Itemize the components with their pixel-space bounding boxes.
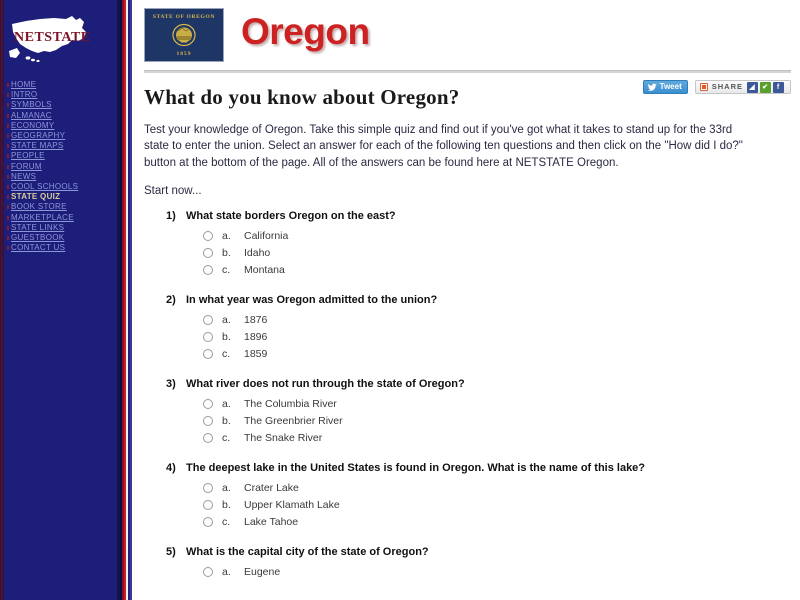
answer-option-letter: c. [222,516,244,528]
quiz-intro-paragraph: Test your knowledge of Oregon. Take this… [144,122,760,171]
question-number: 4) [144,461,186,531]
state-seal-icon [169,22,199,49]
sidebar-item-label: HOME [11,80,36,90]
answer-radio-button[interactable] [203,265,213,275]
page-root: NETSTATE HOMEINTROSYMBOLSALMANACECONOMYG… [0,0,800,600]
bullet-icon [6,202,11,212]
header-divider [144,70,791,73]
bullet-icon [6,151,11,161]
sidebar-item-label: CONTACT US [11,243,65,253]
sidebar-item-label: GUESTBOOK [11,233,64,243]
question-block: 3)What river does not run through the st… [144,377,769,447]
answer-option-letter: c. [222,348,244,360]
question-text: What state borders Oregon on the east? [186,209,769,224]
bullet-icon [6,162,11,172]
answer-option-letter: a. [222,566,244,578]
answer-option-letter: b. [222,415,244,427]
sidebar-item-label: INTRO [11,90,37,100]
answer-option[interactable]: c.Montana [186,262,769,279]
question-list: 1)What state borders Oregon on the east?… [144,209,769,581]
sidebar-edge-stripes [117,0,135,600]
oregon-flag-icon: STATE OF OREGON 1859 [144,8,224,62]
sidebar-left-accent-strip [0,0,4,600]
netstate-logo[interactable]: NETSTATE [6,10,98,70]
answer-radio-button[interactable] [203,500,213,510]
bullet-icon [6,80,11,90]
answer-option-letter: c. [222,432,244,444]
answer-option-letter: a. [222,398,244,410]
answer-radio-button[interactable] [203,567,213,577]
answer-option-letter: b. [222,331,244,343]
sidebar: NETSTATE HOMEINTROSYMBOLSALMANACECONOMYG… [0,0,135,600]
answer-option[interactable]: c.The Snake River [186,430,769,447]
flag-year-text: 1859 [145,51,223,57]
facebook-icon[interactable]: f [773,82,784,93]
answer-option-label: Montana [244,264,285,276]
sidebar-item-label: BOOK STORE [11,202,67,212]
sidebar-item-label: ALMANAC [11,111,52,121]
answer-radio-button[interactable] [203,483,213,493]
bullet-icon [6,233,11,243]
sidebar-item-people[interactable]: PEOPLE [6,151,131,161]
answer-option-label: Eugene [244,566,280,578]
bullet-icon [6,213,11,223]
bullet-icon [6,100,11,110]
answer-radio-button[interactable] [203,416,213,426]
question-number: 3) [144,377,186,447]
answer-option[interactable]: a.1876 [186,312,769,329]
sidebar-item-state-links[interactable]: STATE LINKS [6,223,131,233]
question-number: 5) [144,545,186,581]
bullet-icon [6,192,11,202]
answer-option-label: California [244,230,288,242]
main-content-area: STATE OF OREGON 1859 Oregon Tweet [135,0,800,600]
answer-radio-button[interactable] [203,517,213,527]
sidebar-item-home[interactable]: HOME [6,80,131,90]
answer-option-label: 1896 [244,331,267,343]
sidebar-item-intro[interactable]: INTRO [6,90,131,100]
question-number: 1) [144,209,186,279]
sidebar-item-marketplace[interactable]: MARKETPLACE [6,212,131,222]
answer-option[interactable]: b.Upper Klamath Lake [186,497,769,514]
answer-radio-button[interactable] [203,332,213,342]
sidebar-item-symbols[interactable]: SYMBOLS [6,100,131,110]
sidebar-item-label: NEWS [11,172,36,182]
answer-option-label: 1859 [244,348,267,360]
answer-option-letter: c. [222,264,244,276]
netstate-logo-text: NETSTATE [14,30,91,46]
question-block: 2)In what year was Oregon admitted to th… [144,293,769,363]
answer-option[interactable]: c.1859 [186,346,769,363]
answer-option-label: 1876 [244,314,267,326]
sidebar-item-label: ECONOMY [11,121,54,131]
answer-option[interactable]: b.The Greenbrier River [186,413,769,430]
sidebar-item-almanac[interactable]: ALMANAC [6,111,131,121]
page-header: STATE OF OREGON 1859 Oregon [135,0,800,66]
sidebar-item-label: STATE QUIZ [11,192,60,202]
answer-option[interactable]: a.The Columbia River [186,396,769,413]
answer-radio-button[interactable] [203,231,213,241]
question-text: What is the capital city of the state of… [186,545,769,560]
question-body: What river does not run through the stat… [186,377,769,447]
answer-option-label: Upper Klamath Lake [244,499,340,511]
answer-radio-button[interactable] [203,399,213,409]
answer-radio-button[interactable] [203,349,213,359]
quiz-heading: What do you know about Oregon? [144,84,769,110]
answer-option-label: The Greenbrier River [244,415,343,427]
answer-option-letter: a. [222,482,244,494]
answer-option-label: The Columbia River [244,398,337,410]
question-text: In what year was Oregon admitted to the … [186,293,769,308]
bullet-icon [6,172,11,182]
answer-option[interactable]: c.Lake Tahoe [186,514,769,531]
bullet-icon [6,182,11,192]
sidebar-item-label: FORUM [11,162,42,172]
sidebar-item-state-quiz[interactable]: STATE QUIZ [6,192,131,202]
sidebar-item-label: PEOPLE [11,151,45,161]
bullet-icon [6,121,11,131]
answer-radio-button[interactable] [203,433,213,443]
bullet-icon [6,131,11,141]
question-body: The deepest lake in the United States is… [186,461,769,531]
bullet-icon [6,223,11,233]
answer-option-letter: a. [222,314,244,326]
answer-option-label: Crater Lake [244,482,299,494]
sidebar-item-label: STATE LINKS [11,223,64,233]
answer-option-label: Lake Tahoe [244,516,298,528]
bullet-icon [6,243,11,253]
sidebar-item-economy[interactable]: ECONOMY [6,121,131,131]
sidebar-item-label: MARKETPLACE [11,213,74,223]
bullet-icon [6,90,11,100]
answer-option-letter: a. [222,230,244,242]
answer-radio-button[interactable] [203,248,213,258]
sidebar-nav: HOMEINTROSYMBOLSALMANACECONOMYGEOGRAPHYS… [6,80,131,253]
answer-option-label: Idaho [244,247,270,259]
answer-radio-button[interactable] [203,315,213,325]
start-now-text: Start now... [144,185,769,197]
question-body: What state borders Oregon on the east?a.… [186,209,769,279]
sidebar-item-geography[interactable]: GEOGRAPHY [6,131,131,141]
page-title: Oregon [241,12,370,52]
sidebar-item-news[interactable]: NEWS [6,172,131,182]
answer-option-label: The Snake River [244,432,322,444]
answer-option[interactable]: a.Crater Lake [186,480,769,497]
question-text: What river does not run through the stat… [186,377,769,392]
answer-option-letter: b. [222,499,244,511]
sidebar-item-forum[interactable]: FORUM [6,162,131,172]
sidebar-item-guestbook[interactable]: GUESTBOOK [6,233,131,243]
sidebar-item-state-maps[interactable]: STATE MAPS [6,141,131,151]
sidebar-item-label: COOL SCHOOLS [11,182,78,192]
answer-option[interactable]: b.1896 [186,329,769,346]
answer-option[interactable]: b.Idaho [186,245,769,262]
bullet-icon [6,141,11,151]
answer-option[interactable]: a.California [186,228,769,245]
quiz-content: What do you know about Oregon? Test your… [144,84,769,595]
question-block: 1)What state borders Oregon on the east?… [144,209,769,279]
answer-option-letter: b. [222,247,244,259]
question-block: 4)The deepest lake in the United States … [144,461,769,531]
sidebar-item-label: SYMBOLS [11,100,52,110]
answer-option[interactable]: a.Eugene [186,564,769,581]
question-block: 5)What is the capital city of the state … [144,545,769,581]
question-number: 2) [144,293,186,363]
question-body: What is the capital city of the state of… [186,545,769,581]
question-body: In what year was Oregon admitted to the … [186,293,769,363]
sidebar-item-label: STATE MAPS [11,141,64,151]
bullet-icon [6,111,11,121]
question-text: The deepest lake in the United States is… [186,461,769,476]
sidebar-item-cool-schools[interactable]: COOL SCHOOLS [6,182,131,192]
sidebar-item-label: GEOGRAPHY [11,131,65,141]
flag-top-text: STATE OF OREGON [145,14,223,20]
sidebar-item-book-store[interactable]: BOOK STORE [6,202,131,212]
sidebar-item-contact-us[interactable]: CONTACT US [6,243,131,253]
